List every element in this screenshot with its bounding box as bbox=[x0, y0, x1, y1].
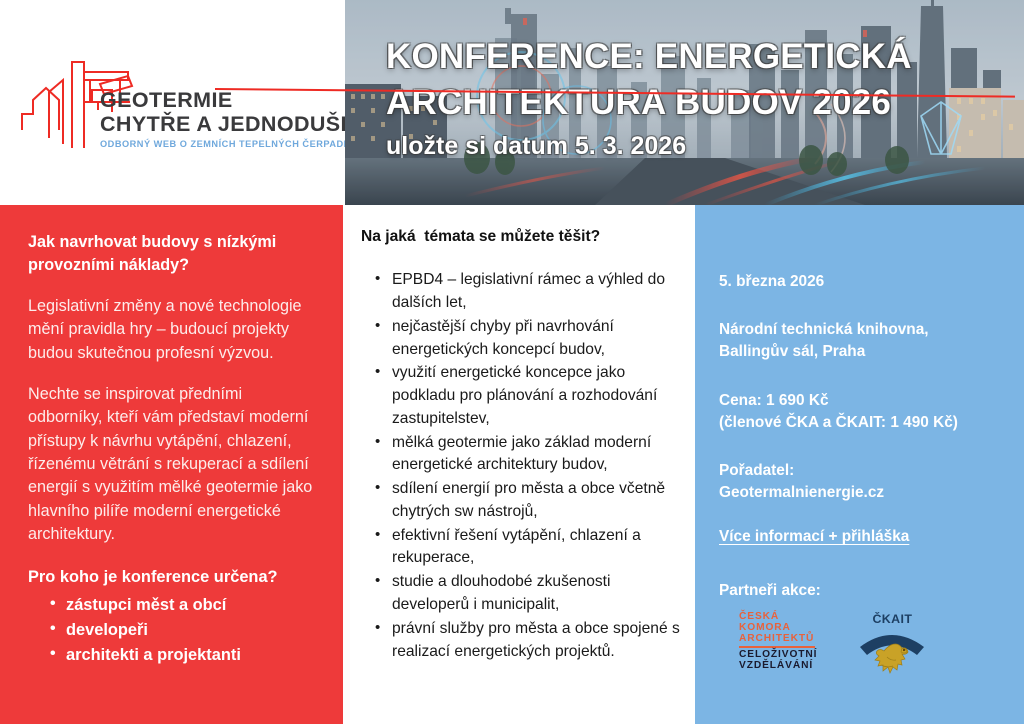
brand-line-2: CHYTŘE A JEDNODUŠE bbox=[100, 112, 340, 136]
banner-subtitle: uložte si datum 5. 3. 2026 bbox=[386, 132, 996, 161]
list-item: využití energetické koncepce jako podkla… bbox=[375, 362, 681, 430]
event-date: 5. března 2026 bbox=[719, 271, 1006, 293]
list-item: mělká geotermie jako základ moderní ener… bbox=[375, 432, 681, 478]
ckait-wordmark: ČKAIT bbox=[855, 612, 929, 626]
partners-heading: Partneři akce: bbox=[719, 582, 1006, 600]
list-item: zástupci měst a obcí bbox=[50, 593, 319, 618]
organizer-label: Pořadatel: bbox=[719, 460, 1006, 482]
topics-heading: Na jaká témata se můžete těšit? bbox=[361, 227, 681, 247]
middle-column: Na jaká témata se můžete těšit? EPBD4 – … bbox=[343, 205, 695, 724]
banner-text-group: KONFERENCE: ENERGETICKÁ ARCHITEKTURA BUD… bbox=[386, 34, 996, 161]
cka-line-5: VZDĚLÁVÁNÍ bbox=[739, 661, 817, 672]
price-primary: Cena: 1 690 Kč bbox=[719, 390, 1006, 412]
banner-title-line-2: ARCHITEKTURA BUDOV 2026 bbox=[386, 80, 996, 126]
left-heading: Jak navrhovat budovy s nízkými provozním… bbox=[28, 231, 319, 277]
brand-tagline: ODBORNÝ WEB O ZEMNÍCH TEPELNÝCH ČERPADLE… bbox=[100, 139, 340, 149]
topics-list: EPBD4 – legislativní rámec a výhled do d… bbox=[353, 269, 681, 663]
cka-line-4: CELOŽIVOTNÍ bbox=[739, 650, 817, 661]
conference-poster: GEOTERMIE CHYTŘE A JEDNODUŠE ODBORNÝ WEB… bbox=[0, 0, 1024, 724]
organizer-name: Geotermalnienergie.cz bbox=[719, 482, 1006, 504]
cka-line-3: ARCHITEKTŮ bbox=[739, 634, 817, 645]
venue-line-2: Ballingův sál, Praha bbox=[719, 341, 1006, 363]
right-column: 5. března 2026 Národní technická knihovn… bbox=[695, 205, 1024, 724]
banner-title-line-1: KONFERENCE: ENERGETICKÁ bbox=[386, 34, 996, 80]
cka-divider bbox=[739, 646, 815, 647]
list-item: developeři bbox=[50, 618, 319, 643]
top-band: GEOTERMIE CHYTŘE A JEDNODUŠE ODBORNÝ WEB… bbox=[0, 0, 1024, 205]
content-columns: Jak navrhovat budovy s nízkými provozním… bbox=[0, 205, 1024, 724]
cka-logo[interactable]: ČESKÁ KOMORA ARCHITEKTŮ CELOŽIVOTNÍ VZDĚ… bbox=[739, 612, 817, 671]
registration-link[interactable]: Více informací + přihláška bbox=[719, 526, 909, 548]
list-item: efektivní řešení vytápění, chlazení a re… bbox=[375, 525, 681, 571]
price-member: (členové ČKA a ČKAIT: 1 490 Kč) bbox=[719, 412, 1006, 434]
left-paragraph-2: Nechte se inspirovat předními odborníky,… bbox=[28, 383, 319, 546]
list-item: nejčastější chyby při navrhování energet… bbox=[375, 316, 681, 362]
left-paragraph-1: Legislativní změny a nové technologie mě… bbox=[28, 295, 319, 365]
list-item: studie a dlouhodobé zkušenosti developer… bbox=[375, 571, 681, 617]
venue-line-1: Národní technická knihovna, bbox=[719, 319, 1006, 341]
left-audience-heading: Pro koho je konference určena? bbox=[28, 566, 319, 589]
partner-logo-row: ČESKÁ KOMORA ARCHITEKTŮ CELOŽIVOTNÍ VZDĚ… bbox=[739, 612, 1006, 690]
hero-banner: KONFERENCE: ENERGETICKÁ ARCHITEKTURA BUD… bbox=[345, 0, 1024, 205]
left-column: Jak navrhovat budovy s nízkými provozním… bbox=[0, 205, 343, 724]
ckait-lion-emblem-icon bbox=[857, 627, 927, 685]
list-item: právní služby pro města a obce spojené s… bbox=[375, 618, 681, 664]
brand-line-1: GEOTERMIE bbox=[100, 88, 340, 112]
brand-logo-block[interactable]: GEOTERMIE CHYTŘE A JEDNODUŠE ODBORNÝ WEB… bbox=[0, 0, 345, 205]
list-item: architekti a projektanti bbox=[50, 643, 319, 668]
list-item: EPBD4 – legislativní rámec a výhled do d… bbox=[375, 269, 681, 315]
brand-wordmark: GEOTERMIE CHYTŘE A JEDNODUŠE ODBORNÝ WEB… bbox=[100, 88, 340, 149]
ckait-logo[interactable]: ČKAIT bbox=[855, 612, 929, 690]
left-audience-list: zástupci měst a obcí developeři architek… bbox=[28, 593, 319, 668]
list-item: sdílení energií pro města a obce včetně … bbox=[375, 478, 681, 524]
